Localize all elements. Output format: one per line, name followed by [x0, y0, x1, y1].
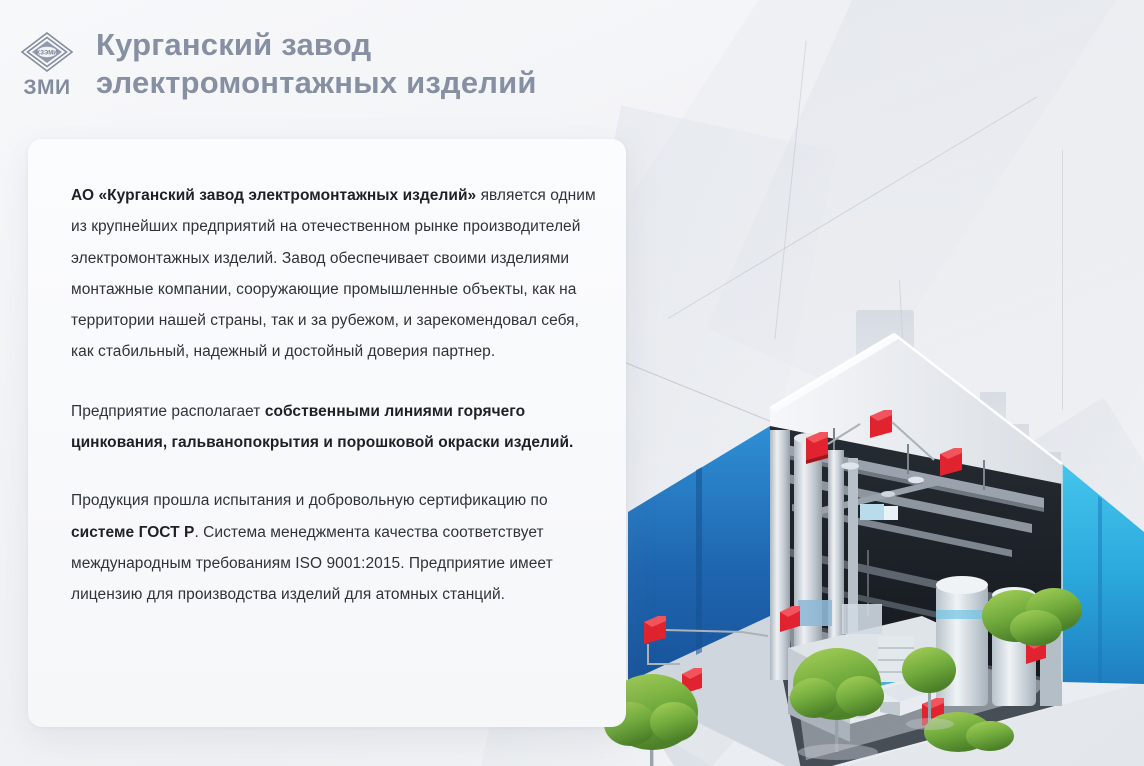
content-card-body: АО «Курганский завод электромонтажных из… — [71, 180, 600, 611]
tree-shadow-center — [798, 744, 878, 760]
paragraph-lead: АО «Курганский завод электромонтажных из… — [71, 180, 600, 368]
tree-shadow-small — [906, 718, 954, 730]
page-title: Курганский завод электромонтажных издели… — [96, 26, 537, 102]
text-run-bold: системе ГОСТ Р — [71, 524, 194, 541]
slide-header: КЗЭМИ ЗМИ Курганский завод электромонтаж… — [18, 26, 537, 102]
text-run: Предприятие располагает — [71, 403, 265, 420]
slide-root: КЗЭМИ ЗМИ Курганский завод электромонтаж… — [0, 0, 1144, 766]
overhead-signage-2 — [884, 506, 898, 520]
company-logo-icon: КЗЭМИ ЗМИ — [18, 30, 76, 98]
storage-tank-1-band — [936, 610, 988, 619]
logo-inner-text: КЗЭМИ — [36, 50, 57, 56]
industrial-plant-illustration — [592, 212, 1144, 766]
storage-tank-1-cap — [936, 576, 988, 594]
paragraph-certification: Продукция прошла испытания и добровольну… — [71, 485, 600, 610]
text-run: Продукция прошла испытания и добровольну… — [71, 492, 548, 509]
overhead-signage — [860, 504, 884, 520]
wall-left-seam — [696, 467, 702, 655]
machine-monitor-2 — [842, 604, 882, 634]
content-card: АО «Курганский завод электромонтажных из… — [28, 139, 626, 727]
text-run: является одним из крупнейших предприятий… — [71, 187, 596, 360]
paragraph-capabilities: Предприятие располагает собственными лин… — [71, 396, 600, 459]
silo-column-a — [770, 430, 790, 680]
logo-letters: ЗМИ — [23, 76, 70, 98]
text-run-bold: АО «Курганский завод электромонтажных из… — [71, 187, 481, 204]
wall-right-cyan — [1062, 464, 1144, 684]
wall-right-seam — [1098, 496, 1102, 683]
machine-monitor-1 — [798, 600, 832, 626]
